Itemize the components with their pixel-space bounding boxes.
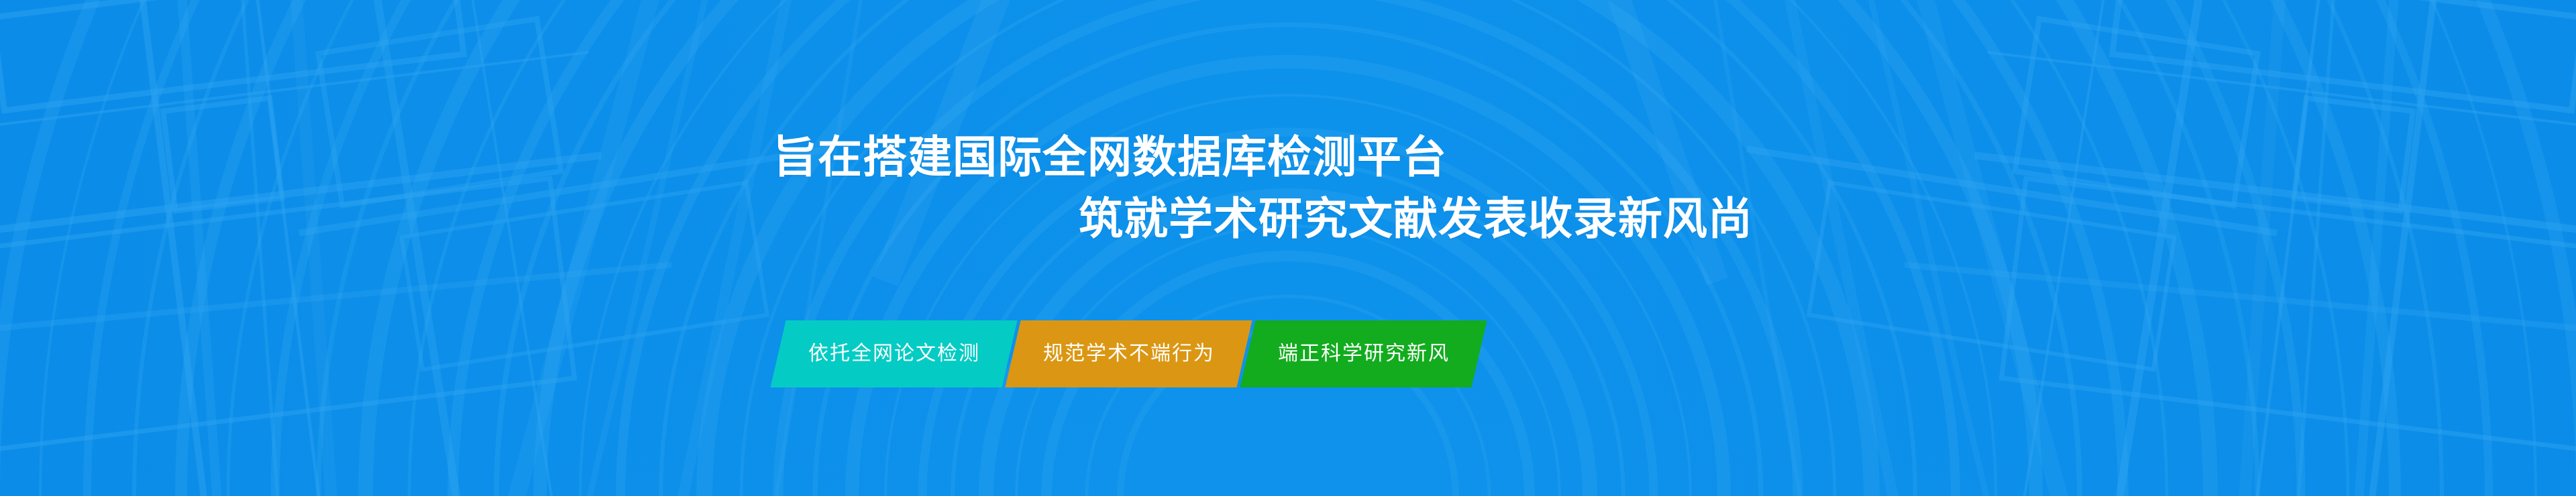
feature-badge-guifan-xueshu-buduan[interactable]: 规范学术不端行为 xyxy=(1005,320,1252,387)
feature-badge-quanwang-lunwen-jiance[interactable]: 依托全网论文检测 xyxy=(770,320,1017,387)
promo-banner: 旨在搭建国际全网数据库检测平台 筑就学术研究文献发表收录新风尚 依托全网论文检测… xyxy=(0,0,2576,496)
feature-badge-strip: 依托全网论文检测 规范学术不端行为 端正科学研究新风 xyxy=(778,320,1479,387)
feature-badge-label: 依托全网论文检测 xyxy=(808,344,980,364)
feature-badge-label: 端正科学研究新风 xyxy=(1278,344,1450,364)
background-decoration xyxy=(0,0,2576,496)
feature-badge-duanzheng-kexue-xinfeng[interactable]: 端正科学研究新风 xyxy=(1240,320,1487,387)
feature-badge-label: 规范学术不端行为 xyxy=(1043,344,1215,364)
